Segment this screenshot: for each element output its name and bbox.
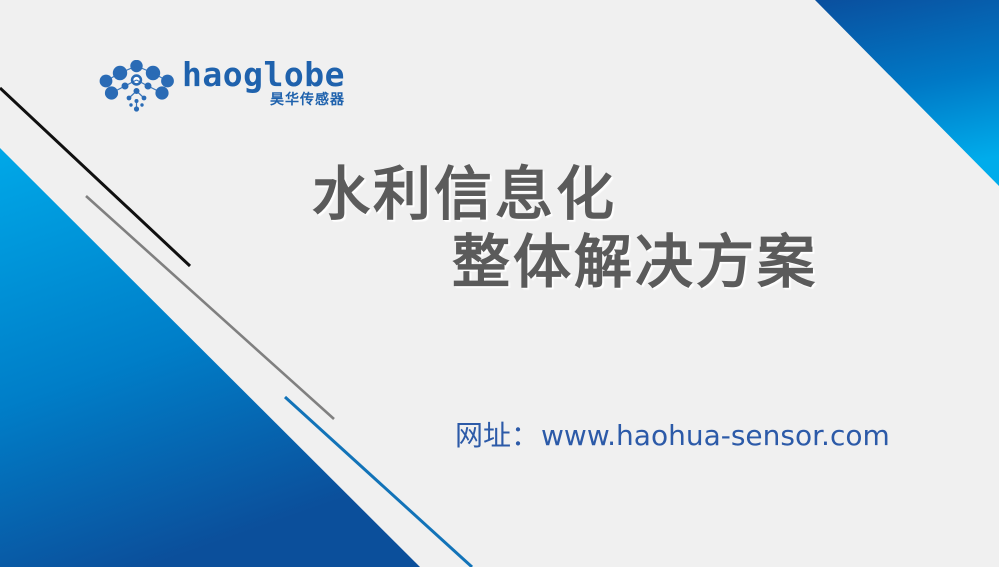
logo-subtitle: 昊华传感器: [270, 93, 345, 107]
molecular-network-logo-icon: [98, 60, 176, 116]
website-url[interactable]: www.haohua-sensor.com: [541, 419, 890, 452]
presentation-slide: haoglobe 昊华传感器 水利信息化 整体解决方案 网址：www.haohu…: [0, 0, 999, 567]
logo-wordmark: haoglobe: [182, 58, 345, 92]
website-label: 网址：: [455, 419, 539, 452]
website-line: 网址：www.haohua-sensor.com: [455, 419, 890, 453]
page-title-line-2: 整体解决方案: [0, 228, 999, 296]
blue-diagonal-line: [285, 397, 472, 567]
page-title-line-1: 水利信息化: [0, 160, 999, 228]
company-logo[interactable]: haoglobe 昊华传感器: [98, 58, 313, 118]
page-title: 水利信息化 整体解决方案: [0, 160, 999, 297]
top-right-blue-triangle: [815, 0, 999, 186]
